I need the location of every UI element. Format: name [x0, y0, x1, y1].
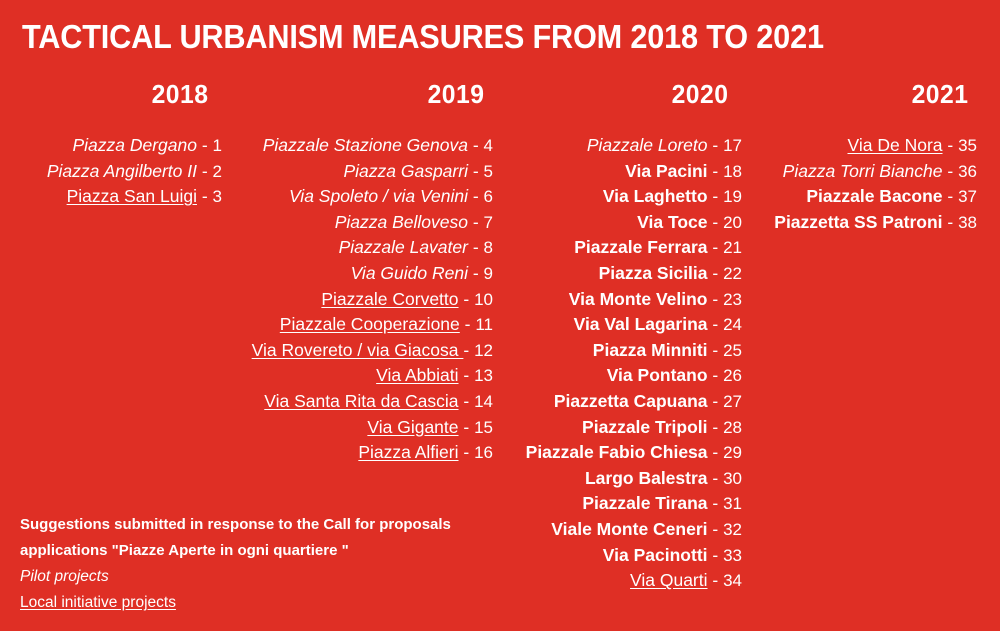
- measure-number: 23: [723, 290, 742, 309]
- measure-number: 25: [723, 341, 742, 360]
- measure-entry: Piazzale Tripoli - 28: [440, 415, 742, 441]
- measure-name: Via Val Lagarina: [574, 314, 708, 334]
- measure-entry: Via Monte Velino - 23: [440, 287, 742, 313]
- measure-name: Piazza Minniti: [593, 340, 708, 360]
- measure-separator: -: [708, 391, 724, 411]
- measure-column-2021: Via De Nora - 35Piazza Torri Bianche - 3…: [680, 133, 977, 235]
- legend: Suggestions submitted in response to the…: [20, 512, 540, 616]
- measure-separator: -: [708, 519, 724, 539]
- measure-name: Piazzale Tirana: [582, 493, 707, 513]
- measure-entry: Piazzale Ferrara - 21: [440, 235, 742, 261]
- legend-call-line-2: applications "Piazze Aperte in ogni quar…: [20, 538, 540, 564]
- year-header-2020: 2020: [643, 78, 757, 110]
- legend-pilot-projects: Pilot projects: [20, 564, 540, 590]
- measure-separator: -: [943, 212, 959, 232]
- year-header-2018: 2018: [123, 78, 237, 110]
- measure-entry: Piazza Sicilia - 22: [440, 261, 742, 287]
- measure-number: 38: [958, 213, 977, 232]
- measure-number: 34: [723, 571, 742, 590]
- measure-separator: -: [943, 161, 959, 181]
- measure-name: Via Quarti: [630, 570, 708, 590]
- measure-separator: -: [708, 570, 724, 590]
- measure-name: Via De Nora: [848, 135, 943, 155]
- measure-entry[interactable]: Via De Nora - 35: [680, 133, 977, 159]
- measure-separator: -: [708, 365, 724, 385]
- measure-number: 37: [958, 187, 977, 206]
- measure-name: Piazzale Stazione Genova: [263, 135, 468, 155]
- measure-name: Piazzale Bacone: [806, 186, 942, 206]
- measure-name: Largo Balestra: [585, 468, 708, 488]
- measure-name: Via Pacinotti: [603, 545, 708, 565]
- legend-local-initiative-projects: Local initiative projects: [20, 590, 540, 616]
- measure-number: 30: [723, 469, 742, 488]
- measure-entry: Piazzetta Capuana - 27: [440, 389, 742, 415]
- measure-name: Piazzetta Capuana: [554, 391, 708, 411]
- measure-entry: Piazzale Bacone - 37: [680, 184, 977, 210]
- measure-number: 29: [723, 443, 742, 462]
- measure-number: 26: [723, 366, 742, 385]
- measure-number: 27: [723, 392, 742, 411]
- measure-name: Viale Monte Ceneri: [551, 519, 707, 539]
- measure-number: 31: [723, 494, 742, 513]
- measure-separator: -: [708, 237, 724, 257]
- measure-name: Piazzale Ferrara: [574, 237, 707, 257]
- measure-name: Piazzale Corvetto: [321, 289, 458, 309]
- measure-number: 28: [723, 418, 742, 437]
- measure-name: Piazzale Tripoli: [582, 417, 707, 437]
- measure-name: Via Rovereto / via Giacosa: [252, 340, 464, 360]
- measure-number: 36: [958, 162, 977, 181]
- measure-separator: -: [943, 135, 959, 155]
- poster-canvas: TACTICAL URBANISM MEASURES FROM 2018 TO …: [0, 0, 1000, 631]
- measure-number: 21: [723, 238, 742, 257]
- measure-number: 22: [723, 264, 742, 283]
- measure-name: Via Santa Rita da Cascia: [264, 391, 458, 411]
- measure-entry: Piazza Torri Bianche - 36: [680, 159, 977, 185]
- measure-name: Via Monte Velino: [569, 289, 708, 309]
- measure-name: Piazzale Fabio Chiesa: [526, 442, 708, 462]
- measure-separator: -: [708, 314, 724, 334]
- measure-separator: -: [708, 442, 724, 462]
- measure-entry: Piazzale Fabio Chiesa - 29: [440, 440, 742, 466]
- measure-separator: -: [708, 263, 724, 283]
- measure-number: 33: [723, 546, 742, 565]
- measure-number: 35: [958, 136, 977, 155]
- measure-entry: Piazzetta SS Patroni - 38: [680, 210, 977, 236]
- measure-separator: -: [708, 417, 724, 437]
- measure-name: Via Pontano: [607, 365, 708, 385]
- measure-name: Piazzale Cooperazione: [280, 314, 460, 334]
- page-title: TACTICAL URBANISM MEASURES FROM 2018 TO …: [22, 17, 824, 57]
- measure-separator: -: [708, 289, 724, 309]
- measure-entry: Largo Balestra - 30: [440, 466, 742, 492]
- measure-number: 32: [723, 520, 742, 539]
- measure-separator: -: [943, 186, 959, 206]
- year-header-row: 2018 2019 2020 2021: [0, 78, 1000, 112]
- measure-separator: -: [708, 545, 724, 565]
- legend-call-line-1: Suggestions submitted in response to the…: [20, 512, 540, 538]
- year-header-2019: 2019: [399, 78, 513, 110]
- measure-entry: Via Val Lagarina - 24: [440, 312, 742, 338]
- measure-number: 24: [723, 315, 742, 334]
- measure-name: Piazza Torri Bianche: [783, 161, 943, 181]
- measure-separator: -: [708, 468, 724, 488]
- year-header-2021: 2021: [883, 78, 997, 110]
- measure-separator: -: [708, 340, 724, 360]
- measure-entry: Via Pontano - 26: [440, 363, 742, 389]
- measure-name: Piazza Sicilia: [599, 263, 708, 283]
- measure-entry: Piazza Minniti - 25: [440, 338, 742, 364]
- measure-separator: -: [708, 493, 724, 513]
- measure-name: Piazzetta SS Patroni: [774, 212, 942, 232]
